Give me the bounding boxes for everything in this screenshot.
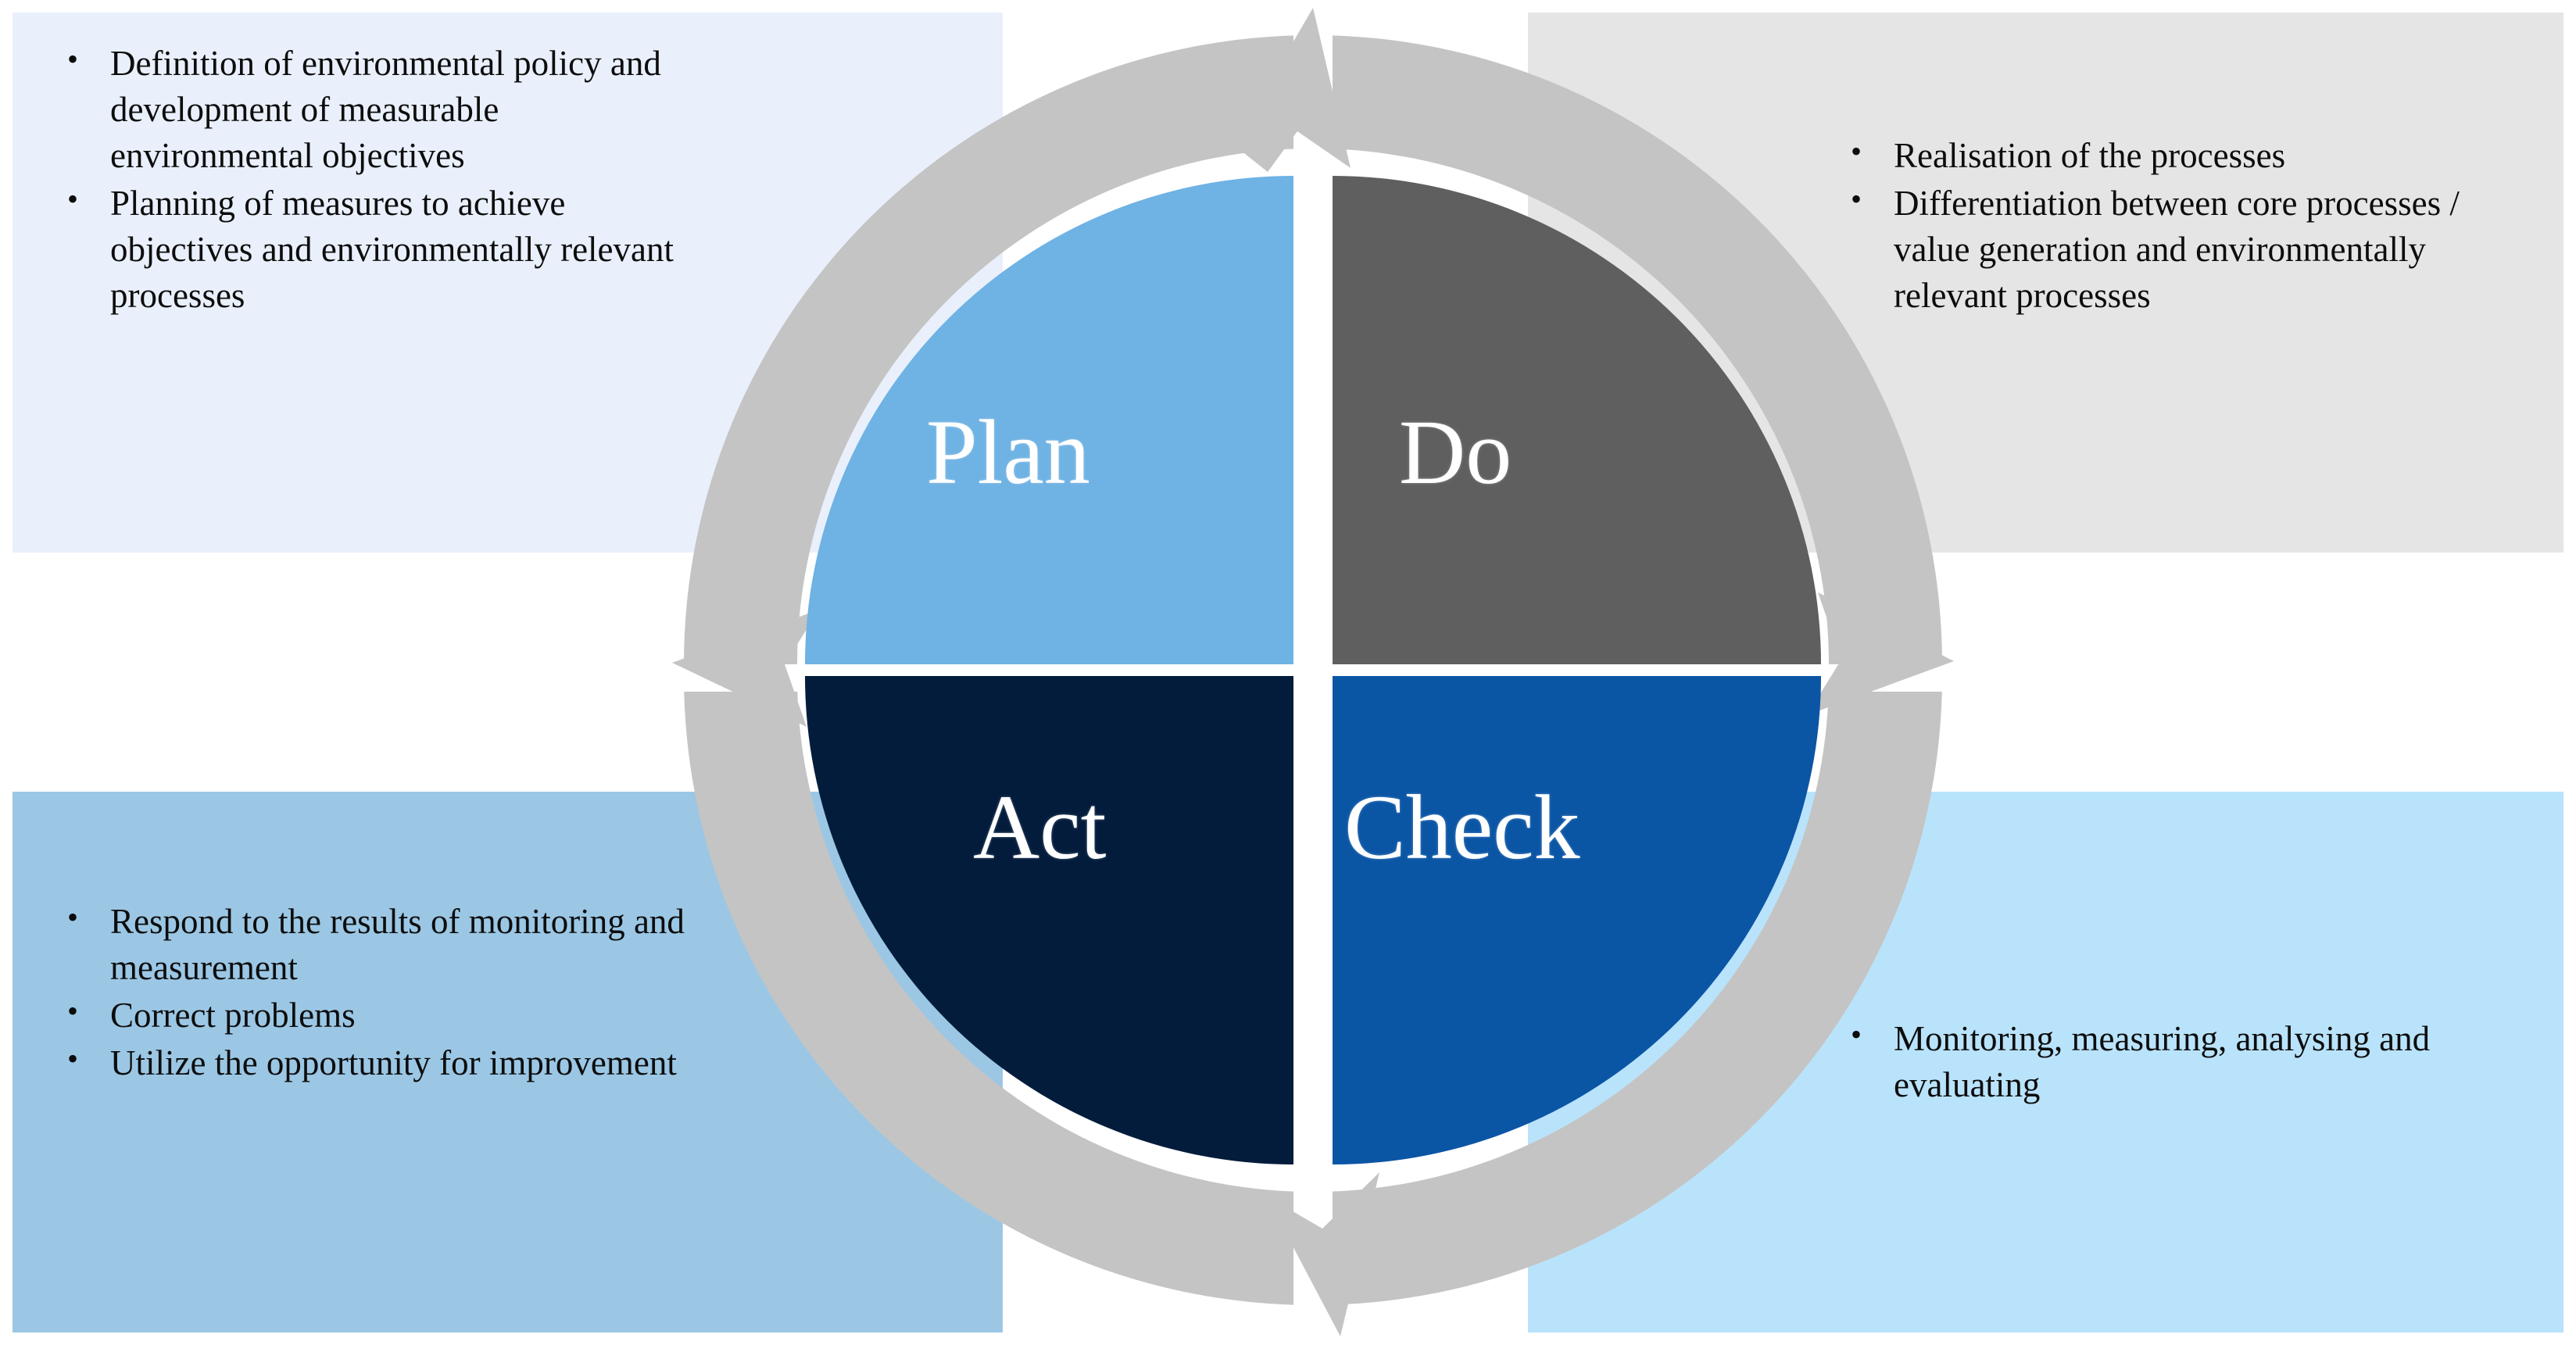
cycle-arrow-ring — [672, 8, 1954, 1336]
list-item: •Differentiation between core processes … — [1844, 181, 2493, 319]
text-block-do: •Realisation of the processes •Different… — [1844, 133, 2493, 320]
quadrant-label-plan: Plan — [926, 406, 1090, 499]
bullet-list-do: •Realisation of the processes •Different… — [1844, 133, 2493, 319]
bullet-list-plan: •Definition of environmental policy and … — [61, 41, 678, 319]
text-block-plan: •Definition of environmental policy and … — [61, 41, 678, 320]
list-item-text: Respond to the results of monitoring and… — [110, 902, 685, 987]
bullet-icon: • — [67, 179, 78, 220]
list-item: •Monitoring, measuring, analysing and ev… — [1844, 1016, 2438, 1108]
text-block-act: •Respond to the results of monitoring an… — [61, 899, 686, 1088]
list-item-text: Correct problems — [110, 996, 356, 1035]
bullet-icon: • — [67, 39, 78, 80]
list-item-text: Differentiation between core processes /… — [1894, 184, 2460, 315]
pdca-wheel — [672, 8, 1954, 1336]
quadrant-label-do: Do — [1399, 406, 1512, 499]
bullet-icon: • — [67, 991, 78, 1032]
quadrant-label-check: Check — [1344, 782, 1580, 874]
pdca-diagram: Plan Do Check Act •Definition of environ… — [0, 0, 2576, 1345]
list-item: •Respond to the results of monitoring an… — [61, 899, 686, 991]
text-block-check: •Monitoring, measuring, analysing and ev… — [1844, 1016, 2438, 1110]
list-item: •Utilize the opportunity for improvement — [61, 1040, 686, 1086]
list-item: •Correct problems — [61, 993, 686, 1039]
bullet-icon: • — [1851, 179, 1862, 220]
cycle-quadrants — [805, 176, 1821, 1164]
list-item: •Definition of environmental policy and … — [61, 41, 678, 179]
bullet-icon: • — [1851, 131, 1862, 172]
bullet-icon: • — [67, 897, 78, 938]
bullet-icon: • — [1851, 1014, 1862, 1055]
bullet-list-check: •Monitoring, measuring, analysing and ev… — [1844, 1016, 2438, 1108]
bullet-icon: • — [67, 1039, 78, 1079]
list-item-text: Realisation of the processes — [1894, 136, 2285, 175]
bullet-list-act: •Respond to the results of monitoring an… — [61, 899, 686, 1086]
quadrant-label-act: Act — [973, 782, 1106, 874]
list-item-text: Monitoring, measuring, analysing and eva… — [1894, 1019, 2430, 1104]
list-item: •Realisation of the processes — [1844, 133, 2493, 179]
list-item-text: Definition of environmental policy and d… — [110, 44, 661, 175]
list-item-text: Planning of measures to achieve objectiv… — [110, 184, 674, 315]
list-item: •Planning of measures to achieve objecti… — [61, 181, 678, 319]
list-item-text: Utilize the opportunity for improvement — [110, 1043, 677, 1082]
